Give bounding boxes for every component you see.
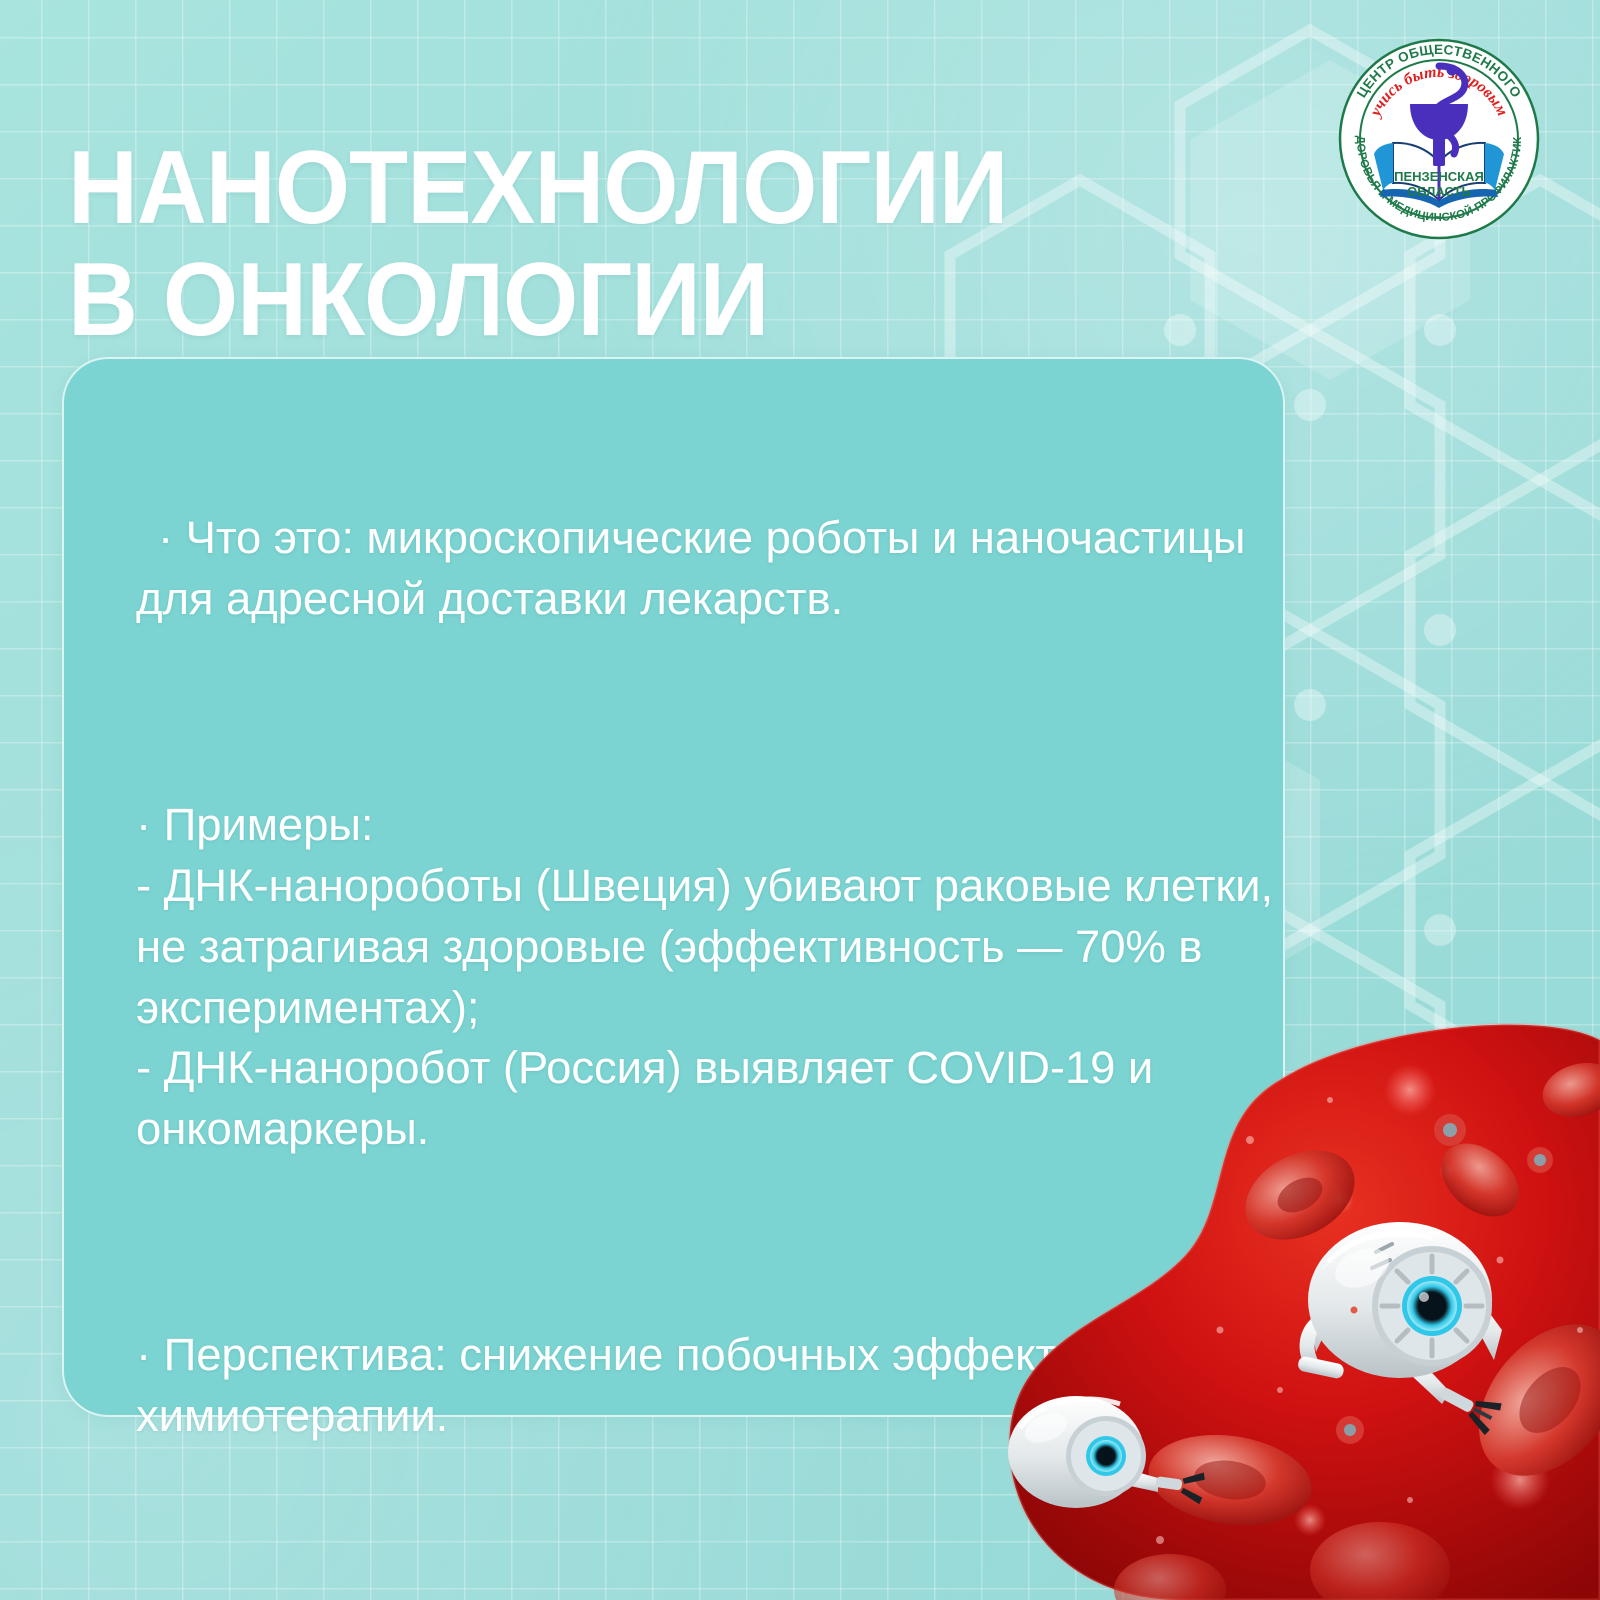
- card-text-block: · Что это: микроскопические роботы и нан…: [136, 387, 1296, 1568]
- logo-region-line2: ОБЛАСТЬ: [1407, 184, 1471, 199]
- organization-logo: ЦЕНТР ОБЩЕСТВЕННОГО ЗДОРОВЬЯ И МЕДИЦИНСК…: [1330, 30, 1548, 248]
- paragraph-examples: · Примеры: - ДНК-нанороботы (Швеция) уби…: [136, 795, 1296, 1159]
- paragraph-what-is-it-text: · Что это: микроскопические роботы и нан…: [136, 512, 1258, 624]
- poster-root: НАНОТЕХНОЛОГИИ В ОНКОЛОГИИ ЦЕНТР ОБЩЕСТВ…: [0, 0, 1600, 1600]
- page-title: НАНОТЕХНОЛОГИИ В ОНКОЛОГИИ: [68, 132, 1165, 357]
- paragraph-what-is-it: · Что это: микроскопические роботы и нан…: [136, 508, 1296, 629]
- logo-region-line1: ПЕНЗЕНСКАЯ: [1394, 169, 1484, 184]
- paragraph-outlook: · Перспектива: снижение побочных эффекто…: [136, 1325, 1296, 1446]
- content-card: · Что это: микроскопические роботы и нан…: [62, 357, 1285, 1417]
